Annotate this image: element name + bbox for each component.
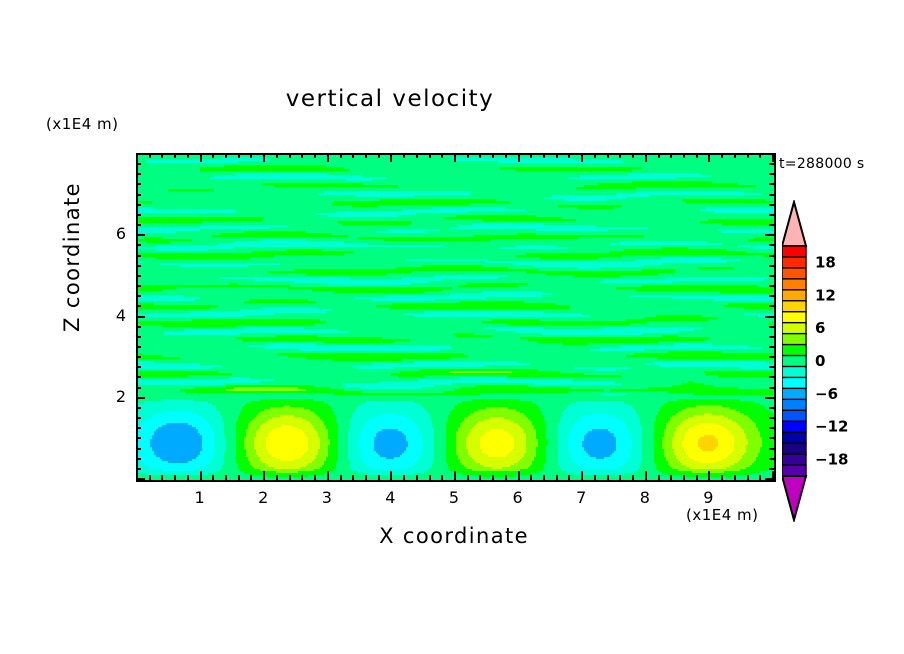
x-minor-tick-top — [505, 153, 507, 158]
colorbar-svg: 181260−6−12−18 — [782, 200, 878, 522]
y-minor-tick — [136, 194, 141, 196]
y-minor-tick — [136, 224, 141, 226]
x-tick-label: 9 — [688, 488, 728, 507]
x-tick-label: 6 — [498, 488, 538, 507]
x-tick-label: 1 — [180, 488, 220, 507]
svg-text:−18: −18 — [815, 451, 848, 469]
x-minor-tick-top — [747, 153, 749, 158]
x-minor-tick-top — [365, 153, 367, 158]
x-minor-tick — [594, 475, 596, 480]
x-minor-tick — [683, 475, 685, 480]
x-minor-tick-top — [543, 153, 545, 158]
x-major-tick-top — [390, 153, 392, 162]
y-minor-tick — [136, 448, 141, 450]
y-major-tick — [136, 153, 145, 155]
y-minor-tick — [136, 305, 141, 307]
x-minor-tick — [607, 475, 609, 480]
x-minor-tick — [416, 475, 418, 480]
y-minor-tick — [136, 275, 141, 277]
x-minor-tick-top — [161, 153, 163, 158]
x-minor-tick — [492, 475, 494, 480]
x-minor-tick — [314, 475, 316, 480]
x-minor-tick-top — [568, 153, 570, 158]
svg-text:−6: −6 — [815, 385, 838, 403]
y-minor-tick — [136, 366, 141, 368]
y-minor-tick-right — [769, 356, 774, 358]
x-minor-tick — [429, 475, 431, 480]
y-minor-tick — [136, 255, 141, 257]
x-minor-tick — [747, 475, 749, 480]
x-tick-label: 3 — [307, 488, 347, 507]
y-minor-tick — [136, 437, 141, 439]
x-minor-tick-top — [632, 153, 634, 158]
x-minor-tick-top — [619, 153, 621, 158]
x-minor-tick — [556, 475, 558, 480]
x-minor-tick-top — [340, 153, 342, 158]
x-minor-tick — [479, 475, 481, 480]
y-minor-tick — [136, 346, 141, 348]
x-minor-tick — [250, 475, 252, 480]
x-minor-tick — [632, 475, 634, 480]
x-minor-tick — [530, 475, 532, 480]
y-major-tick-right — [765, 316, 774, 318]
y-minor-tick — [136, 295, 141, 297]
y-minor-tick-right — [769, 407, 774, 409]
y-minor-tick-right — [769, 183, 774, 185]
y-minor-tick — [136, 458, 141, 460]
x-tick-label: 8 — [625, 488, 665, 507]
contour-field — [138, 155, 774, 480]
x-minor-tick-top — [658, 153, 660, 158]
x-minor-tick — [441, 475, 443, 480]
x-minor-tick-top — [352, 153, 354, 158]
y-major-tick-right — [765, 478, 774, 480]
y-tick-label: 2 — [86, 387, 126, 406]
y-minor-tick-right — [769, 163, 774, 165]
x-axis-title: X coordinate — [136, 524, 772, 548]
x-major-tick-top — [645, 153, 647, 162]
y-minor-tick — [136, 468, 141, 470]
x-major-tick — [327, 471, 329, 480]
y-minor-tick — [136, 204, 141, 206]
y-minor-tick — [136, 376, 141, 378]
x-minor-tick — [276, 475, 278, 480]
x-minor-tick — [734, 475, 736, 480]
x-minor-tick-top — [696, 153, 698, 158]
y-minor-tick-right — [769, 427, 774, 429]
x-minor-tick — [467, 475, 469, 480]
x-major-tick-top — [200, 153, 202, 162]
svg-text:18: 18 — [815, 253, 836, 271]
x-minor-tick-top — [238, 153, 240, 158]
contour-svg — [138, 155, 774, 480]
y-minor-tick-right — [769, 194, 774, 196]
y-minor-tick — [136, 387, 141, 389]
x-major-tick-top — [518, 153, 520, 162]
x-minor-tick — [352, 475, 354, 480]
x-tick-label: 4 — [370, 488, 410, 507]
x-minor-tick — [212, 475, 214, 480]
x-minor-tick — [568, 475, 570, 480]
y-minor-tick-right — [769, 265, 774, 267]
x-minor-tick-top — [759, 153, 761, 158]
y-minor-tick — [136, 336, 141, 338]
x-major-tick-top — [454, 153, 456, 162]
x-minor-tick — [658, 475, 660, 480]
y-minor-tick-right — [769, 285, 774, 287]
page-title: vertical velocity — [0, 86, 780, 112]
y-tick-label: 4 — [86, 306, 126, 325]
x-minor-tick — [340, 475, 342, 480]
x-minor-tick-top — [212, 153, 214, 158]
x-minor-tick-top — [492, 153, 494, 158]
y-major-tick-right — [765, 153, 774, 155]
y-minor-tick-right — [769, 224, 774, 226]
y-minor-tick-right — [769, 173, 774, 175]
x-major-tick-top — [708, 153, 710, 162]
y-major-tick — [136, 316, 145, 318]
x-minor-tick-top — [556, 153, 558, 158]
x-minor-tick-top — [734, 153, 736, 158]
x-minor-tick — [289, 475, 291, 480]
svg-text:−12: −12 — [815, 418, 848, 436]
x-minor-tick-top — [225, 153, 227, 158]
y-minor-tick-right — [769, 417, 774, 419]
x-minor-tick-top — [314, 153, 316, 158]
x-major-tick — [518, 471, 520, 480]
x-tick-label: 7 — [561, 488, 601, 507]
y-minor-tick-right — [769, 244, 774, 246]
y-minor-tick-right — [769, 336, 774, 338]
x-minor-tick-top — [607, 153, 609, 158]
y-minor-tick — [136, 163, 141, 165]
colorbar: 181260−6−12−18 — [782, 200, 808, 522]
x-major-tick-top — [581, 153, 583, 162]
y-minor-tick — [136, 265, 141, 267]
y-minor-tick-right — [769, 376, 774, 378]
x-major-tick-top — [327, 153, 329, 162]
y-minor-tick — [136, 407, 141, 409]
x-minor-tick-top — [301, 153, 303, 158]
y-minor-tick-right — [769, 468, 774, 470]
x-major-tick — [200, 471, 202, 480]
y-major-tick — [136, 397, 145, 399]
y-minor-tick-right — [769, 326, 774, 328]
x-minor-tick — [365, 475, 367, 480]
y-minor-tick-right — [769, 214, 774, 216]
x-major-tick — [581, 471, 583, 480]
x-minor-tick — [619, 475, 621, 480]
x-minor-tick-top — [530, 153, 532, 158]
y-major-tick-right — [765, 234, 774, 236]
y-minor-tick-right — [769, 387, 774, 389]
y-minor-tick-right — [769, 275, 774, 277]
x-major-tick — [645, 471, 647, 480]
x-minor-tick-top — [429, 153, 431, 158]
plot-area — [136, 153, 776, 482]
svg-text:6: 6 — [815, 319, 825, 337]
y-axis-unit-label: (x1E4 m) — [46, 115, 119, 133]
x-minor-tick-top — [149, 153, 151, 158]
x-minor-tick — [174, 475, 176, 480]
x-minor-tick-top — [174, 153, 176, 158]
y-minor-tick — [136, 417, 141, 419]
y-minor-tick — [136, 214, 141, 216]
x-minor-tick-top — [594, 153, 596, 158]
x-minor-tick-top — [467, 153, 469, 158]
y-minor-tick — [136, 183, 141, 185]
y-minor-tick-right — [769, 366, 774, 368]
x-minor-tick — [670, 475, 672, 480]
svg-text:0: 0 — [815, 352, 825, 370]
x-minor-tick-top — [250, 153, 252, 158]
x-minor-tick-top — [403, 153, 405, 158]
x-major-tick — [390, 471, 392, 480]
y-tick-label: 6 — [86, 224, 126, 243]
x-minor-tick — [187, 475, 189, 480]
y-minor-tick-right — [769, 448, 774, 450]
x-major-tick — [263, 471, 265, 480]
x-minor-tick — [505, 475, 507, 480]
x-minor-tick-top — [289, 153, 291, 158]
y-minor-tick — [136, 173, 141, 175]
x-minor-tick — [149, 475, 151, 480]
y-minor-tick — [136, 356, 141, 358]
x-minor-tick — [301, 475, 303, 480]
x-minor-tick — [225, 475, 227, 480]
x-minor-tick — [161, 475, 163, 480]
x-axis-unit-label: (x1E4 m) — [686, 506, 759, 524]
y-axis-title: Z coordinate — [60, 162, 84, 352]
y-minor-tick — [136, 244, 141, 246]
figure-canvas: vertical velocity (x1E4 m) (x1E4 m) Z co… — [0, 0, 904, 654]
x-minor-tick-top — [479, 153, 481, 158]
x-minor-tick-top — [670, 153, 672, 158]
x-minor-tick-top — [441, 153, 443, 158]
x-tick-label: 5 — [434, 488, 474, 507]
y-minor-tick-right — [769, 437, 774, 439]
y-minor-tick-right — [769, 295, 774, 297]
y-minor-tick-right — [769, 204, 774, 206]
x-minor-tick — [378, 475, 380, 480]
x-minor-tick — [759, 475, 761, 480]
x-minor-tick — [238, 475, 240, 480]
y-minor-tick — [136, 427, 141, 429]
y-minor-tick-right — [769, 346, 774, 348]
y-major-tick-right — [765, 397, 774, 399]
x-minor-tick-top — [378, 153, 380, 158]
y-minor-tick-right — [769, 305, 774, 307]
x-tick-label: 2 — [243, 488, 283, 507]
y-major-tick — [136, 234, 145, 236]
time-annotation: t=288000 s — [779, 156, 864, 172]
x-minor-tick — [721, 475, 723, 480]
x-major-tick-top — [263, 153, 265, 162]
y-minor-tick-right — [769, 458, 774, 460]
svg-text:12: 12 — [815, 286, 836, 304]
x-minor-tick — [696, 475, 698, 480]
x-minor-tick — [543, 475, 545, 480]
x-minor-tick-top — [187, 153, 189, 158]
x-major-tick — [708, 471, 710, 480]
x-minor-tick-top — [683, 153, 685, 158]
x-minor-tick-top — [721, 153, 723, 158]
y-minor-tick — [136, 326, 141, 328]
y-minor-tick — [136, 285, 141, 287]
y-major-tick — [136, 478, 145, 480]
x-major-tick — [454, 471, 456, 480]
y-minor-tick-right — [769, 255, 774, 257]
x-minor-tick — [403, 475, 405, 480]
x-minor-tick-top — [276, 153, 278, 158]
x-minor-tick-top — [416, 153, 418, 158]
